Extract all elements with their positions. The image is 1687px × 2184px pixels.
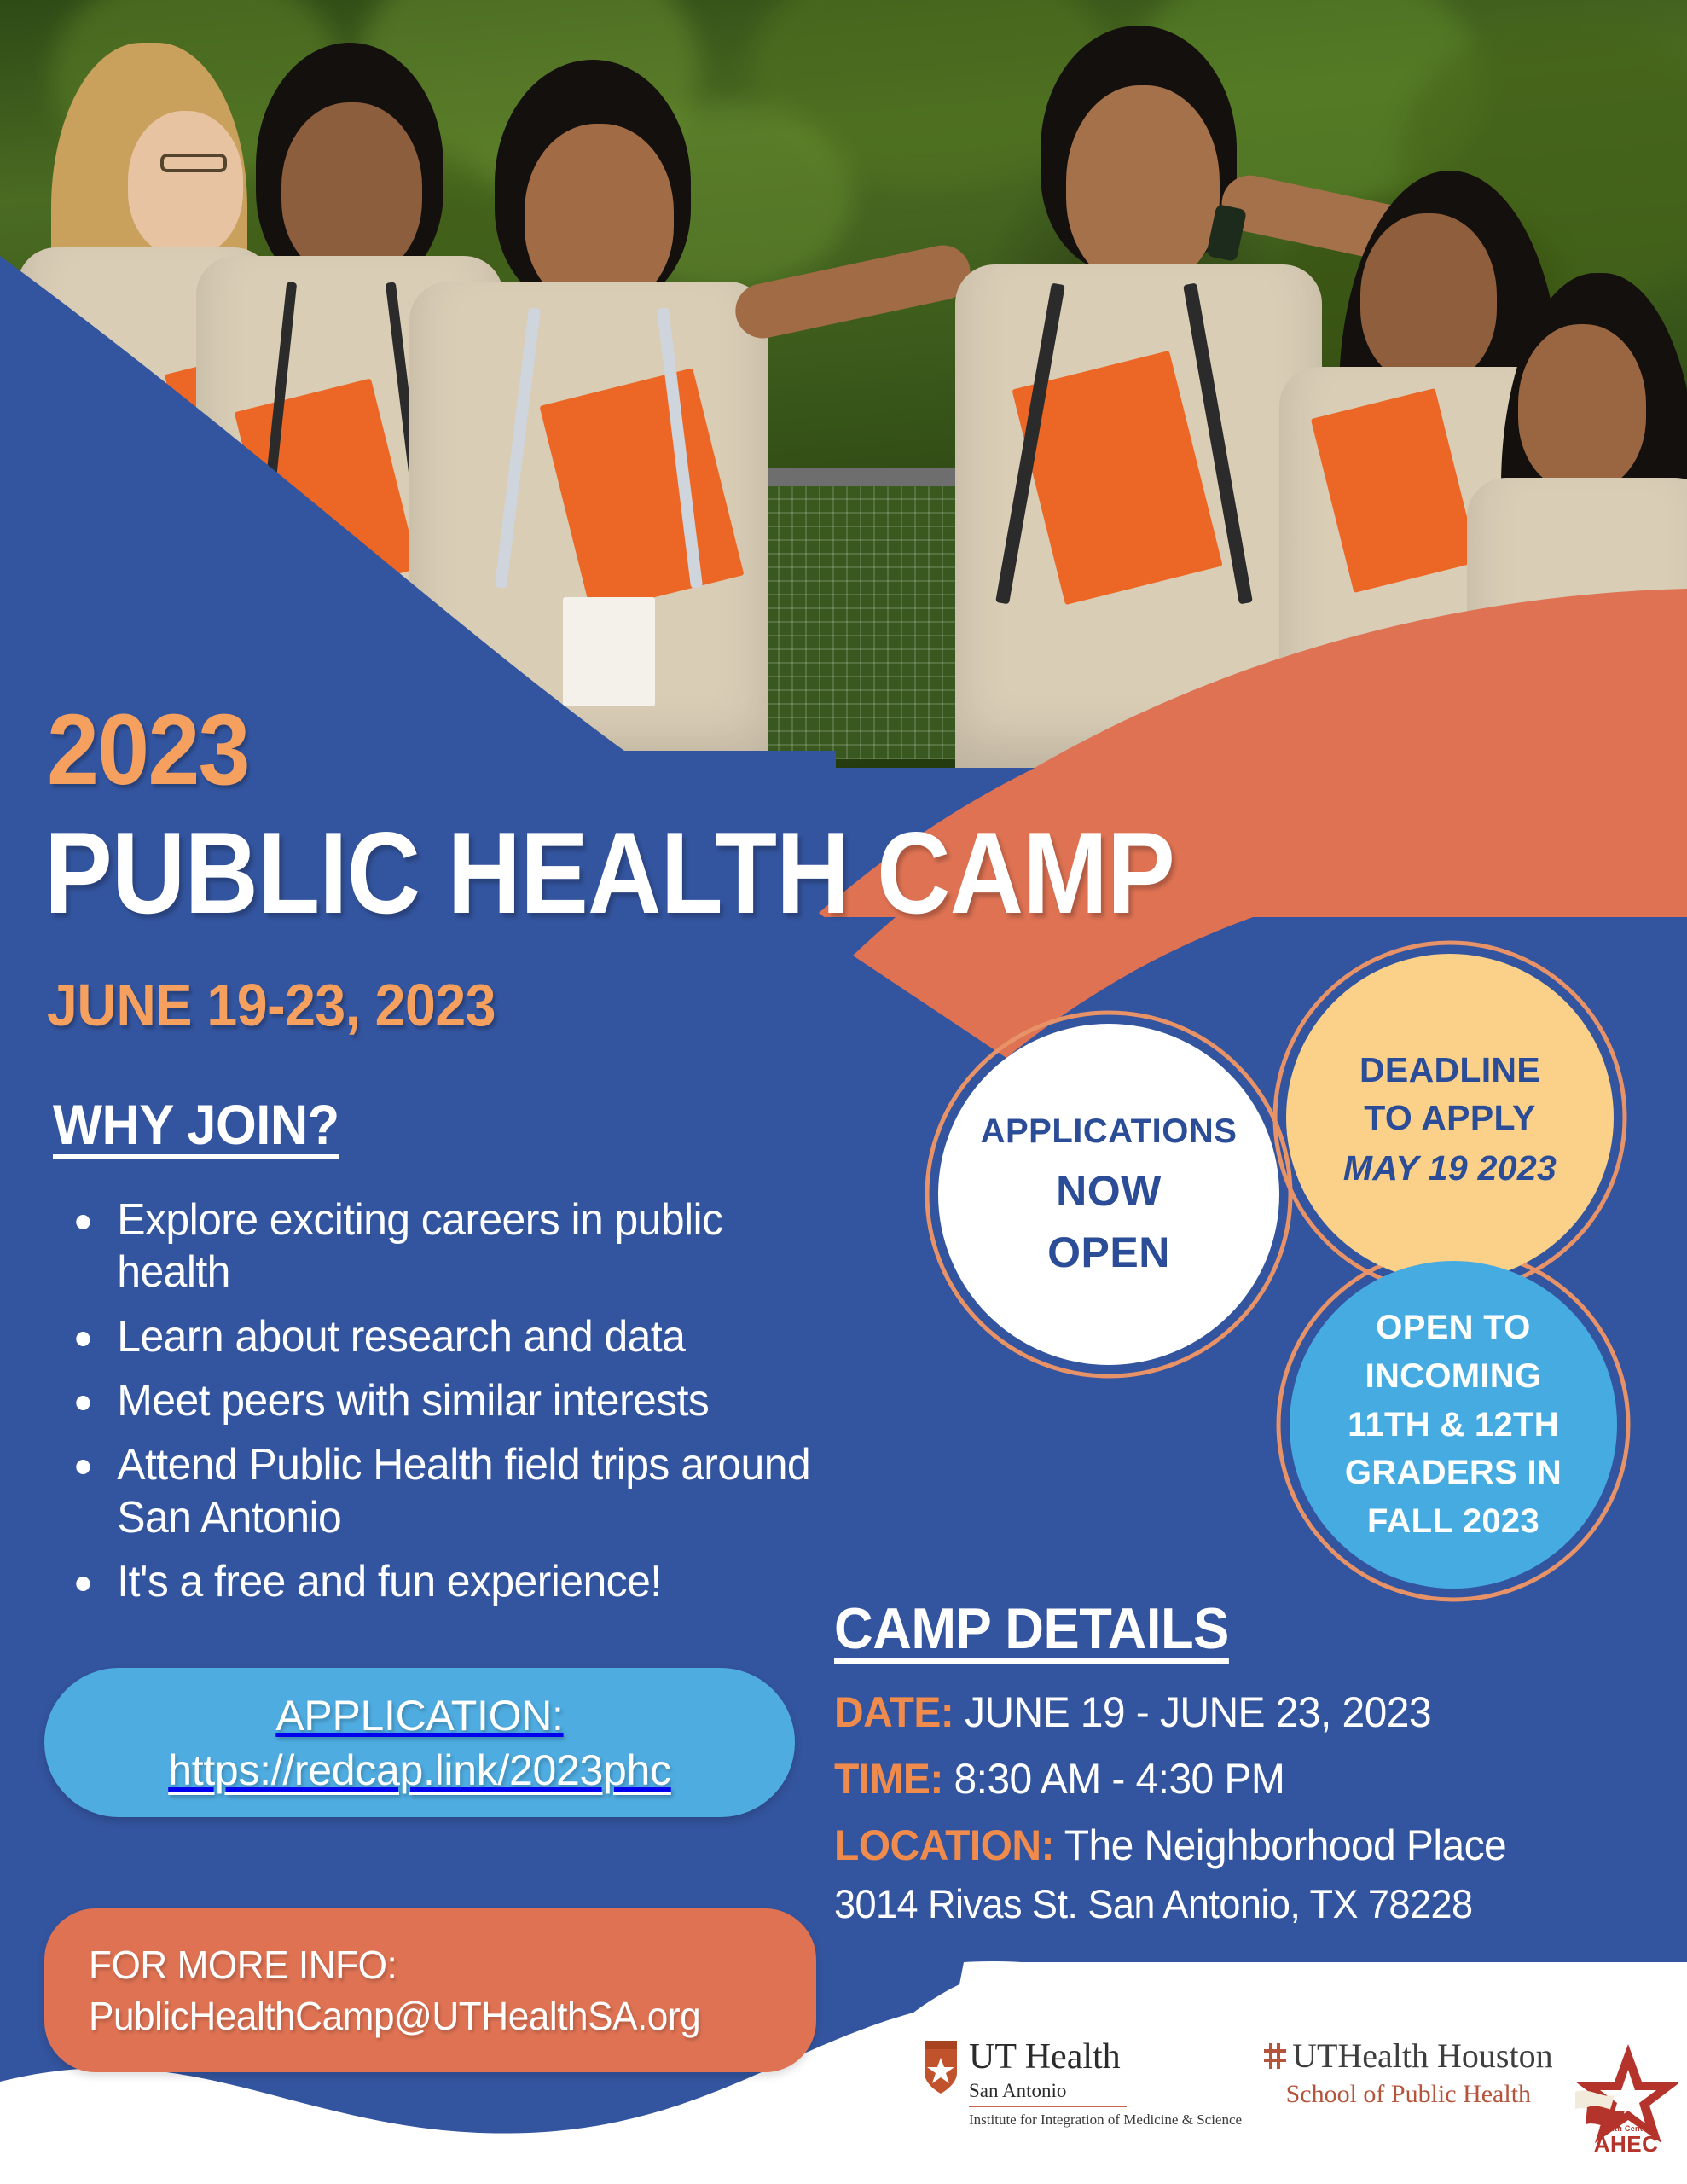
deadline-line-2: TO APPLY — [1364, 1095, 1535, 1141]
camp-detail-date: DATE: JUNE 19 - JUNE 23, 2023 — [834, 1689, 1431, 1736]
badge-line-3: OPEN — [1047, 1228, 1170, 1277]
badge-deadline: DEADLINE TO APPLY MAY 19 2023 — [1286, 954, 1614, 1281]
ahec-name: AHEC — [1575, 2133, 1678, 2155]
poster-date-range: JUNE 19-23, 2023 — [47, 975, 496, 1035]
camp-detail-location: LOCATION: The Neighborhood Place — [834, 1822, 1506, 1869]
why-join-heading: WHY JOIN? — [53, 1092, 339, 1157]
more-info-pill[interactable]: FOR MORE INFO: PublicHealthCamp@UTHealth… — [44, 1908, 816, 2072]
more-info-label: FOR MORE INFO: — [89, 1942, 787, 1988]
badge-eligibility: OPEN TO INCOMING 11TH & 12TH GRADERS IN … — [1290, 1261, 1617, 1589]
ut-health-name: UT Health — [969, 2039, 1242, 2075]
eligibility-line-2: INCOMING — [1365, 1352, 1542, 1401]
list-item: Explore exciting careers in public healt… — [61, 1194, 831, 1299]
footer-logos: UT Health San Antonio Institute for Inte… — [921, 2039, 1678, 2158]
more-info-email: PublicHealthCamp@UTHealthSA.org — [89, 1993, 787, 2039]
time-value: 8:30 AM - 4:30 PM — [954, 1755, 1285, 1803]
badge-line-1: APPLICATIONS — [981, 1112, 1238, 1151]
deadline-line-1: DEADLINE — [1359, 1047, 1540, 1094]
uth-houston-sph-logo: UTHealth Houston School of Public Health — [1264, 2039, 1553, 2107]
camp-detail-address: 3014 Rivas St. San Antonio, TX 78228 — [834, 1882, 1473, 1926]
list-item: It's a free and fun experience! — [61, 1556, 831, 1608]
location-value: The Neighborhood Place — [1064, 1821, 1506, 1869]
uth-houston-name: UTHealth Houston — [1292, 2039, 1553, 2073]
eligibility-line-3: 11TH & 12TH — [1348, 1401, 1559, 1449]
ut-health-san-antonio-logo: UT Health San Antonio Institute for Inte… — [921, 2039, 1242, 2129]
application-url: https://redcap.link/2023phc — [168, 1745, 671, 1795]
camp-detail-time: TIME: 8:30 AM - 4:30 PM — [834, 1756, 1284, 1803]
deadline-date: MAY 19 2023 — [1343, 1148, 1557, 1188]
eligibility-line-5: FALL 2023 — [1367, 1497, 1539, 1546]
ut-health-campus: San Antonio — [969, 2080, 1242, 2101]
poster-year: 2023 — [47, 700, 249, 800]
location-label: LOCATION: — [834, 1821, 1054, 1869]
eligibility-line-1: OPEN TO — [1376, 1304, 1530, 1352]
ut-health-text: UT Health San Antonio Institute for Inte… — [969, 2039, 1242, 2129]
divider — [969, 2106, 1127, 2107]
why-join-list: Explore exciting careers in public healt… — [61, 1194, 863, 1621]
uth-houston-school: School of Public Health — [1286, 2082, 1531, 2107]
ahec-logo: South Central AHEC — [1575, 2039, 1678, 2158]
date-value: JUNE 19 - JUNE 23, 2023 — [965, 1688, 1431, 1736]
list-item: Meet peers with similar interests — [61, 1375, 831, 1427]
time-label: TIME: — [834, 1755, 943, 1803]
ahec-text: South Central AHEC — [1575, 2124, 1678, 2155]
poster-canvas: APPLICATIONS NOW OPEN DEADLINE TO APPLY … — [0, 0, 1687, 2184]
list-item: Learn about research and data — [61, 1311, 831, 1363]
badge-applications-open: APPLICATIONS NOW OPEN — [938, 1024, 1279, 1365]
application-link-button[interactable]: APPLICATION: https://redcap.link/2023phc — [44, 1668, 795, 1817]
shield-icon — [921, 2039, 960, 2095]
hashtag-icon — [1264, 2043, 1286, 2069]
page-title: PUBLIC HEALTH CAMP — [44, 815, 1174, 931]
badge-line-2: NOW — [1056, 1166, 1162, 1216]
ut-health-unit: Institute for Integration of Medicine & … — [969, 2111, 1242, 2129]
date-label: DATE: — [834, 1688, 954, 1736]
uth-houston-row: UTHealth Houston — [1264, 2039, 1553, 2073]
eligibility-line-4: GRADERS IN — [1345, 1449, 1562, 1497]
application-label: APPLICATION: — [275, 1691, 563, 1740]
list-item: Attend Public Health field trips around … — [61, 1439, 831, 1544]
camp-details-heading: CAMP DETAILS — [834, 1595, 1229, 1662]
